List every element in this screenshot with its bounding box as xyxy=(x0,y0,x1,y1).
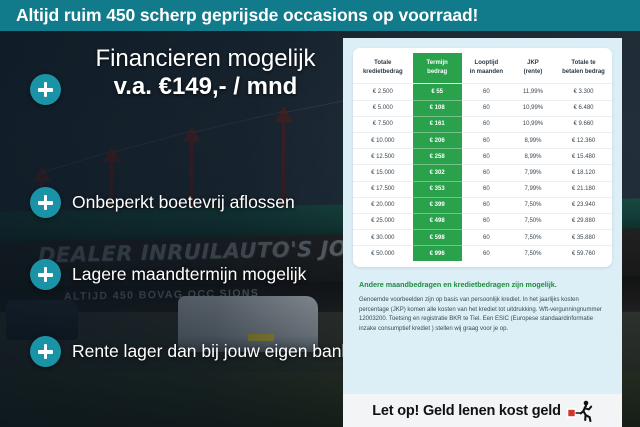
table-cell: € 12.500 xyxy=(353,149,413,165)
table-cell: € 23.940 xyxy=(555,197,612,213)
table-cell: 10,99% xyxy=(511,116,555,132)
plus-circle-icon xyxy=(30,187,61,218)
table-header-cell-0: Totalekredietbedrag xyxy=(353,53,413,84)
table-row: € 17.500€ 353607,99%€ 21.180 xyxy=(353,181,612,197)
table-cell: € 161 xyxy=(413,116,462,132)
table-cell: 60 xyxy=(462,84,511,100)
table-cell: € 15.000 xyxy=(353,165,413,181)
table-cell: 60 xyxy=(462,197,511,213)
table-cell: 10,99% xyxy=(511,100,555,116)
table-row: € 20.000€ 399607,50%€ 23.940 xyxy=(353,197,612,213)
table-cell: € 30.000 xyxy=(353,230,413,246)
table-cell: 8,99% xyxy=(511,149,555,165)
table-cell: 60 xyxy=(462,165,511,181)
credit-warning-strip: Let op! Geld lenen kost geld xyxy=(343,394,622,427)
header-line: bedrag xyxy=(414,68,461,77)
table-cell: € 10.000 xyxy=(353,132,413,148)
table-cell: € 15.480 xyxy=(555,149,612,165)
table-cell: 11,99% xyxy=(511,84,555,100)
table-cell: € 108 xyxy=(413,100,462,116)
feature-label-1: Onbeperkt boetevrij aflossen xyxy=(72,192,295,213)
table-row: € 5.000€ 1086010,99%€ 6.480 xyxy=(353,100,612,116)
table-cell: 60 xyxy=(462,213,511,229)
table-cell: € 21.180 xyxy=(555,181,612,197)
disclaimer-body: Genoemde voorbeelden zijn op basis van p… xyxy=(359,296,606,335)
hero-line-1: Financieren mogelijk xyxy=(68,46,343,73)
table-cell: 7,50% xyxy=(511,213,555,229)
table-cell: € 50.000 xyxy=(353,246,413,262)
table-row: € 30.000€ 598607,50%€ 35.880 xyxy=(353,230,612,246)
table-cell: € 25.000 xyxy=(353,213,413,229)
table-cell: € 17.500 xyxy=(353,181,413,197)
table-cell: € 59.760 xyxy=(555,246,612,262)
table-cell: € 258 xyxy=(413,149,462,165)
table-cell: € 6.480 xyxy=(555,100,612,116)
table-cell: 7,99% xyxy=(511,181,555,197)
table-row: € 25.000€ 498607,50%€ 29.880 xyxy=(353,213,612,229)
table-cell: € 3.300 xyxy=(555,84,612,100)
table-cell: 60 xyxy=(462,181,511,197)
table-row: € 7.500€ 1616010,99%€ 9.660 xyxy=(353,116,612,132)
financing-rate-table: TotalekredietbedragTermijnbedragLooptijd… xyxy=(353,53,612,261)
table-body: € 2.500€ 556011,99%€ 3.300€ 5.000€ 10860… xyxy=(353,84,612,262)
table-row: € 50.000€ 996607,50%€ 59.760 xyxy=(353,246,612,262)
header-line: kredietbedrag xyxy=(354,68,412,77)
table-cell: 60 xyxy=(462,100,511,116)
running-man-debt-icon xyxy=(567,400,593,422)
table-cell: € 399 xyxy=(413,197,462,213)
table-cell: 60 xyxy=(462,149,511,165)
header-line: JKP xyxy=(512,59,554,68)
header-line: betalen bedrag xyxy=(556,68,611,77)
header-line: Totale te xyxy=(556,59,611,68)
table-cell: € 598 xyxy=(413,230,462,246)
plus-circle-icon xyxy=(30,336,61,367)
table-cell: 7,50% xyxy=(511,197,555,213)
feature-item-3: Rente lager dan bij jouw eigen bank xyxy=(30,336,350,367)
table-cell: 60 xyxy=(462,132,511,148)
table-cell: € 353 xyxy=(413,181,462,197)
table-header-cell-3: JKP(rente) xyxy=(511,53,555,84)
table-cell: € 996 xyxy=(413,246,462,262)
left-feature-column: Financieren mogelijk v.a. €149,- / mnd O… xyxy=(0,31,350,427)
table-cell: € 35.880 xyxy=(555,230,612,246)
promo-banner-text: Altijd ruim 450 scherp geprijsde occasio… xyxy=(0,0,640,31)
header-line: Looptijd xyxy=(463,59,510,68)
table-row: € 2.500€ 556011,99%€ 3.300 xyxy=(353,84,612,100)
rate-table-card: TotalekredietbedragTermijnbedragLooptijd… xyxy=(353,48,612,267)
header-line: in maanden xyxy=(463,68,510,77)
table-row: € 15.000€ 302607,99%€ 18.120 xyxy=(353,165,612,181)
table-row: € 10.000€ 206608,99%€ 12.360 xyxy=(353,132,612,148)
table-header-row: TotalekredietbedragTermijnbedragLooptijd… xyxy=(353,53,612,84)
table-cell: € 55 xyxy=(413,84,462,100)
table-cell: € 206 xyxy=(413,132,462,148)
hero-line-2: v.a. €149,- / mnd xyxy=(68,73,343,102)
table-cell: € 20.000 xyxy=(353,197,413,213)
table-head: TotalekredietbedragTermijnbedragLooptijd… xyxy=(353,53,612,84)
table-cell: € 2.500 xyxy=(353,84,413,100)
feature-item-1: Onbeperkt boetevrij aflossen xyxy=(30,187,350,218)
table-cell: € 9.660 xyxy=(555,116,612,132)
promo-banner: Altijd ruim 450 scherp geprijsde occasio… xyxy=(0,0,640,31)
table-cell: € 498 xyxy=(413,213,462,229)
table-cell: € 5.000 xyxy=(353,100,413,116)
hero-headline: Financieren mogelijk v.a. €149,- / mnd xyxy=(68,46,343,102)
plus-circle-icon xyxy=(30,74,61,105)
table-cell: 60 xyxy=(462,246,511,262)
disclaimer-notes: Andere maandbedragen en kredietbedragen … xyxy=(353,267,612,334)
table-header-cell-4: Totale tebetalen bedrag xyxy=(555,53,612,84)
table-row: € 12.500€ 258608,99%€ 15.480 xyxy=(353,149,612,165)
table-cell: 8,99% xyxy=(511,132,555,148)
table-cell: € 18.120 xyxy=(555,165,612,181)
table-cell: € 7.500 xyxy=(353,116,413,132)
table-cell: 7,50% xyxy=(511,230,555,246)
table-cell: € 12.360 xyxy=(555,132,612,148)
feature-item-2: Lagere maandtermijn mogelijk xyxy=(30,259,350,290)
table-cell: € 29.880 xyxy=(555,213,612,229)
feature-label-2: Lagere maandtermijn mogelijk xyxy=(72,264,306,285)
header-line: (rente) xyxy=(512,68,554,77)
table-header-cell-2: Looptijdin maanden xyxy=(462,53,511,84)
table-cell: € 302 xyxy=(413,165,462,181)
table-cell: 7,50% xyxy=(511,246,555,262)
disclaimer-title: Andere maandbedragen en kredietbedragen … xyxy=(359,280,606,289)
financing-info-panel: TotalekredietbedragTermijnbedragLooptijd… xyxy=(343,38,622,427)
table-cell: 7,99% xyxy=(511,165,555,181)
table-header-cell-1: Termijnbedrag xyxy=(413,53,462,84)
credit-warning-text: Let op! Geld lenen kost geld xyxy=(372,403,561,419)
feature-label-3: Rente lager dan bij jouw eigen bank xyxy=(72,341,350,362)
table-cell: 60 xyxy=(462,230,511,246)
table-cell: 60 xyxy=(462,116,511,132)
header-line: Termijn xyxy=(414,59,461,68)
plus-circle-icon xyxy=(30,259,61,290)
header-line: Totale xyxy=(354,59,412,68)
